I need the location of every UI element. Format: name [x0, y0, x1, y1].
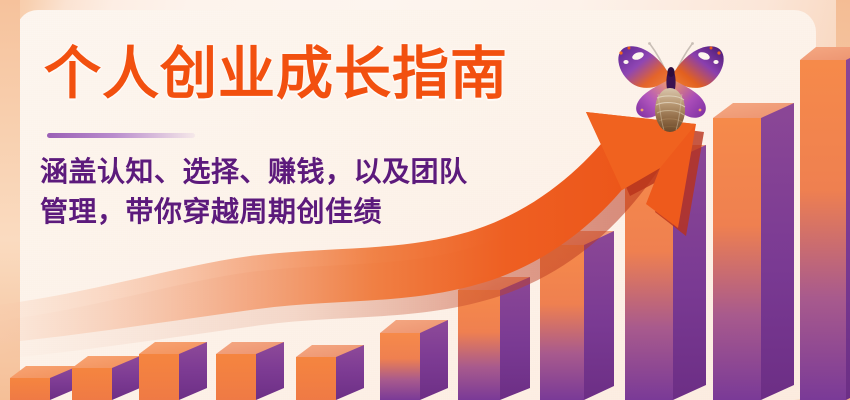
page-subtitle: 涵盖认知、选择、赚钱，以及团队 管理，带你穿越周期创佳绩: [40, 152, 570, 232]
title-divider: [47, 133, 195, 138]
subtitle-line-1: 涵盖认知、选择、赚钱，以及团队: [40, 152, 570, 192]
page-title: 个人创业成长指南: [44, 46, 508, 103]
subtitle-line-2: 管理，带你穿越周期创佳绩: [40, 192, 570, 232]
butterfly-icon: [612, 22, 728, 140]
banner-root: 个人创业成长指南 涵盖认知、选择、赚钱，以及团队 管理，带你穿越周期创佳绩: [0, 0, 850, 400]
